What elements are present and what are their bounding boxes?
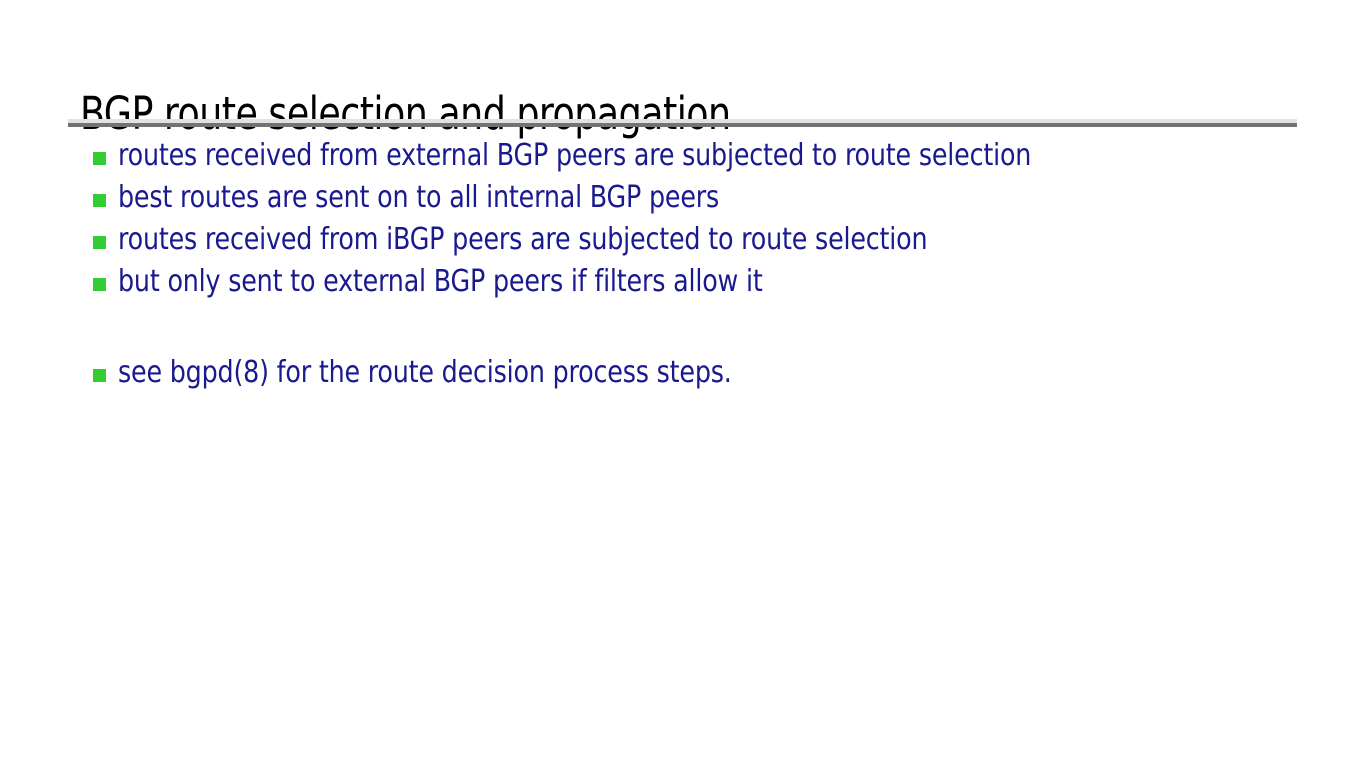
presentation-slide: BGP route selection and propagation rout…	[0, 0, 1366, 768]
bullet-list: routes received from external BGP peers …	[93, 136, 1333, 395]
title-divider	[68, 119, 1297, 127]
list-item-label: routes received from iBGP peers are subj…	[118, 220, 1260, 260]
square-bullet-icon	[93, 369, 106, 382]
list-item-label: best routes are sent on to all internal …	[118, 178, 1260, 218]
square-bullet-icon	[93, 194, 106, 207]
list-item-label: but only sent to external BGP peers if f…	[118, 262, 1260, 302]
divider-main-line	[68, 123, 1297, 127]
square-bullet-icon	[93, 236, 106, 249]
square-bullet-icon	[93, 152, 106, 165]
list-item: see bgpd(8) for the route decision proce…	[93, 353, 1333, 395]
page-title: BGP route selection and propagation	[80, 88, 1196, 140]
list-item: routes received from iBGP peers are subj…	[93, 220, 1333, 262]
list-item: best routes are sent on to all internal …	[93, 178, 1333, 220]
list-item-label: routes received from external BGP peers …	[118, 136, 1260, 176]
list-item: but only sent to external BGP peers if f…	[93, 262, 1333, 304]
list-item: routes received from external BGP peers …	[93, 136, 1333, 178]
square-bullet-icon	[93, 278, 106, 291]
list-item-label: see bgpd(8) for the route decision proce…	[118, 353, 1260, 393]
